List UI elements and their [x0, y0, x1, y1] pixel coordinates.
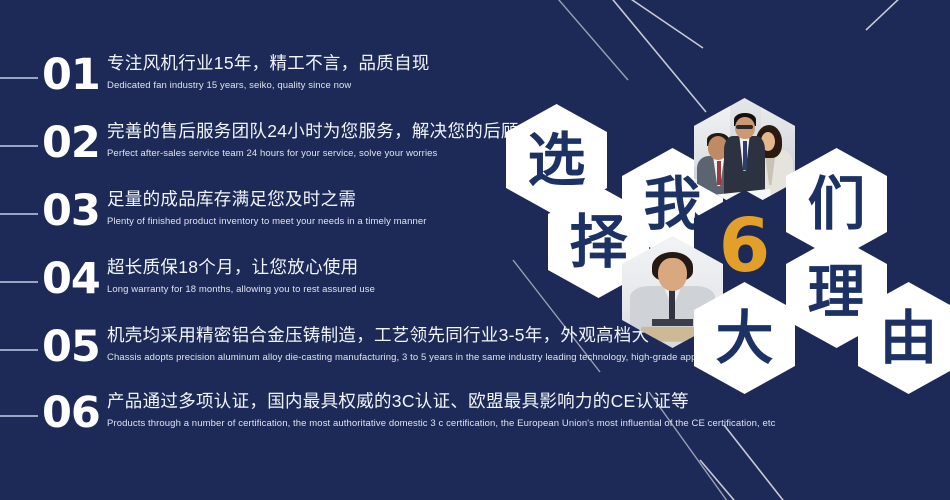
hex-glyph: 由	[879, 309, 937, 367]
why-choose-us-banner: 01 专注风机行业15年，精工不言，品质自现 Dedicated fan ind…	[0, 0, 950, 500]
hex-glyph: 大	[715, 309, 773, 367]
hex-glyph: 我	[643, 175, 701, 233]
hex-glyph: 择	[569, 213, 627, 271]
hexagon-cluster: 选 择 我 6	[0, 0, 950, 500]
hex-glyph: 选	[527, 131, 585, 189]
hex-glyph: 们	[807, 175, 865, 233]
hex-glyph: 理	[807, 263, 865, 321]
hex-glyph-number: 6	[719, 209, 771, 283]
